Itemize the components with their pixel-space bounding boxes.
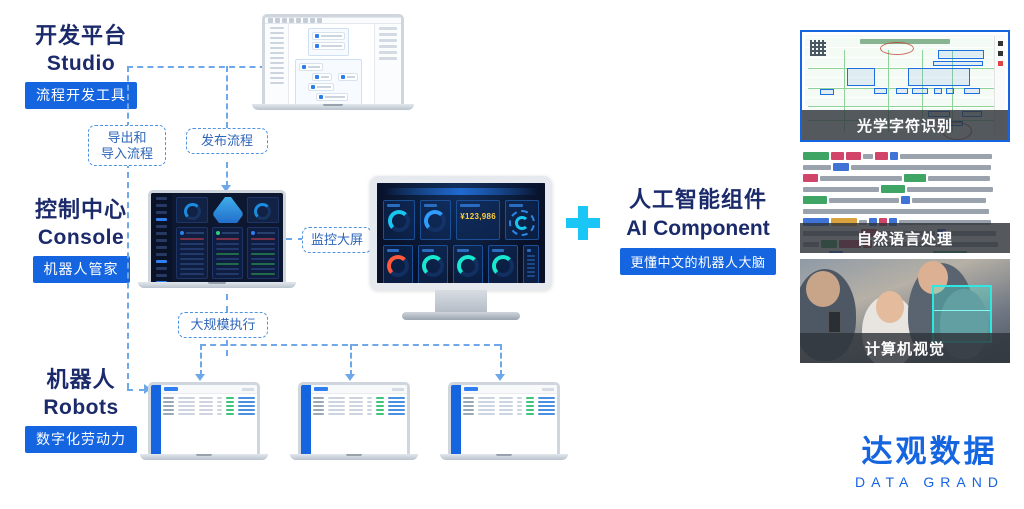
donut-chart — [388, 210, 410, 232]
console-main — [172, 193, 283, 282]
laptop-base — [140, 454, 268, 460]
sidebar-item — [156, 225, 167, 228]
edge-label-monitor: 监控大屏 — [302, 227, 372, 253]
gauge-chart — [509, 210, 535, 236]
panel-line — [180, 263, 204, 265]
property-row — [379, 27, 397, 30]
dashboard-row-top: ¥123,986 — [383, 200, 539, 240]
robot-toolbar — [461, 385, 557, 394]
panel-line — [180, 238, 204, 240]
donut-chart — [422, 255, 444, 277]
console-panel — [176, 227, 208, 279]
panel-line — [216, 243, 240, 245]
status-dot — [180, 231, 184, 235]
mini-table — [527, 255, 535, 277]
ocr-detection-box — [933, 61, 983, 66]
connector-studio-down-a — [127, 66, 129, 128]
status-dot — [216, 231, 220, 235]
studio-body — [265, 24, 401, 104]
studio-activity-tree — [265, 24, 289, 104]
tier-badge-console: 机器人管家 — [33, 256, 130, 283]
entity-tag — [803, 196, 827, 204]
diagram-canvas: 开发平台 Studio 流程开发工具 控制中心 Console 机器人管家 机器… — [0, 0, 1024, 509]
primary-button — [464, 387, 478, 391]
nlp-text-line — [803, 174, 1007, 183]
panel-line — [216, 253, 240, 255]
connector-branch-1 — [200, 344, 202, 376]
card-label — [387, 204, 400, 207]
robot-main — [461, 385, 557, 454]
robot-screen-2 — [298, 382, 410, 454]
property-row — [379, 39, 397, 42]
tier-badge-studio: 流程开发工具 — [25, 82, 137, 109]
ai-title-cn: 人工智能组件 — [608, 182, 788, 214]
plus-icon — [566, 206, 600, 240]
laptop-base — [138, 282, 295, 288]
toolbar-icon — [289, 18, 294, 23]
toolbar-icon — [282, 18, 287, 23]
node-icon — [302, 65, 306, 69]
console-panel — [212, 227, 244, 279]
ocr-detection-box — [908, 68, 970, 86]
card-label — [460, 204, 480, 207]
phone-device — [828, 311, 841, 333]
nlp-text-line — [803, 163, 1007, 172]
connector-branch-3 — [500, 344, 502, 376]
console-app — [151, 193, 283, 282]
person-left-head — [806, 271, 840, 307]
panel-line — [216, 263, 240, 265]
toolbar-icon — [296, 18, 301, 23]
stat-card — [176, 197, 208, 223]
dashboard-app: ¥123,986 — [377, 183, 545, 283]
dashboard-card: ¥123,986 — [456, 200, 500, 240]
studio-properties-panel — [374, 24, 401, 104]
sidebar-dot — [998, 51, 1003, 56]
entity-tag — [803, 174, 818, 182]
panel-line — [251, 253, 275, 255]
flow-node — [338, 73, 358, 81]
ocr-detection-box — [964, 88, 980, 94]
monitor-neck — [435, 290, 487, 312]
panel-line — [180, 258, 204, 260]
robot-app — [301, 385, 407, 454]
card-label — [492, 249, 504, 252]
table-row — [161, 412, 257, 416]
sidebar-item-active — [156, 260, 167, 263]
donut-chart — [254, 203, 271, 220]
dashboard-screen: ¥123,986 — [370, 176, 552, 290]
donut-chart — [492, 255, 514, 277]
entity-tag — [846, 152, 861, 160]
toolbar-icon — [268, 18, 273, 23]
edge-label-export-import: 导出和 导入流程 — [88, 125, 166, 166]
tree-item — [270, 67, 284, 69]
ocr-detection-box — [934, 88, 942, 94]
entity-tag — [833, 163, 849, 171]
tier-label-console: 控制中心 Console 机器人管家 — [6, 196, 156, 283]
company-logo: 达观数据 DATA GRAND — [842, 426, 1017, 490]
robot-sidebar — [301, 385, 311, 454]
card-caption-ocr: 光学字符识别 — [802, 110, 1008, 140]
card-label — [422, 249, 434, 252]
node-icon — [319, 95, 323, 99]
flow-node — [312, 32, 345, 40]
person-center-head — [876, 291, 904, 323]
tree-item — [270, 47, 284, 49]
ai-capability-cards: 光学字符识别 — [800, 30, 1010, 369]
donut-chart — [184, 203, 201, 220]
tree-item — [270, 42, 284, 44]
property-row — [379, 57, 397, 60]
flow-group — [295, 59, 362, 104]
logo-en: DATA GRAND — [842, 474, 1017, 490]
arrow-branch-2 — [345, 374, 355, 381]
property-row — [379, 51, 397, 54]
sidebar-dot — [998, 41, 1003, 46]
toolbar-icon — [317, 18, 322, 23]
panel-header — [216, 231, 240, 235]
stamp-mark — [880, 42, 914, 55]
table-row — [527, 271, 535, 273]
capability-card-nlp: 自然语言处理 — [800, 148, 1010, 253]
entity-tag — [831, 152, 844, 160]
nlp-text-line — [803, 185, 1007, 194]
panel-header — [180, 231, 204, 235]
panel-line — [216, 268, 240, 270]
tree-item — [270, 62, 284, 64]
property-row — [379, 33, 397, 36]
search-box — [242, 388, 254, 391]
dashboard-card — [418, 245, 448, 290]
donut-chart — [387, 255, 409, 277]
panel-line — [180, 243, 204, 245]
entity-tag — [881, 185, 905, 193]
node-icon — [315, 75, 319, 79]
card-label — [457, 249, 469, 252]
flow-group — [308, 28, 349, 56]
device-robot-laptop-1 — [148, 382, 260, 454]
ocr-detection-box — [946, 88, 954, 94]
tree-item — [270, 52, 284, 54]
tier-en-robots: Robots — [6, 394, 156, 421]
studio-app — [265, 17, 401, 104]
sidebar-item — [156, 253, 167, 256]
sidebar-dot — [998, 61, 1003, 66]
panel-line — [180, 248, 204, 250]
panel-line — [180, 273, 204, 275]
entity-tag — [803, 152, 829, 160]
tier-badge-robots: 数字化劳动力 — [25, 426, 137, 453]
console-stats-row — [176, 197, 279, 223]
panel-line — [216, 238, 240, 240]
panel-line — [251, 243, 275, 245]
entity-tag — [904, 174, 926, 182]
donut-chart — [424, 210, 446, 232]
card-label — [509, 204, 523, 207]
property-row — [379, 45, 397, 48]
connector-publish-down — [226, 162, 228, 187]
robot-main — [311, 385, 407, 454]
ai-badge: 更懂中文的机器人大脑 — [620, 248, 775, 275]
dashboard-card — [383, 200, 415, 240]
node-icon — [315, 34, 319, 38]
invoice-gridline — [808, 68, 1002, 69]
panel-line — [216, 248, 240, 250]
entity-tag — [875, 152, 888, 160]
sidebar-item — [156, 274, 167, 277]
sidebar-item — [156, 232, 167, 235]
entity-tag — [901, 196, 910, 204]
robot-sidebar — [151, 385, 161, 454]
panel-line — [251, 263, 275, 265]
table-row — [527, 267, 535, 269]
arrow-branch-3 — [495, 374, 505, 381]
robot-toolbar — [311, 385, 407, 394]
tree-item — [270, 27, 284, 29]
connector-studio-down-b — [127, 162, 129, 389]
edge-label-publish: 发布流程 — [186, 128, 268, 154]
panel-line — [251, 268, 275, 270]
laptop-base — [290, 454, 418, 460]
robot-app — [151, 385, 257, 454]
invoice-gridline — [808, 106, 1002, 107]
device-studio-laptop — [262, 14, 404, 104]
toolbar-icon — [275, 18, 280, 23]
ocr-detection-box — [896, 88, 908, 94]
connector-mass-down2 — [226, 340, 228, 356]
hero-diamond — [212, 197, 242, 223]
search-box — [542, 388, 554, 391]
primary-button — [314, 387, 328, 391]
node-icon — [315, 44, 319, 48]
dashboard-card — [488, 245, 518, 290]
robot-toolbar — [161, 385, 257, 394]
panel-line — [251, 238, 275, 240]
tier-en-studio: Studio — [6, 50, 156, 77]
status-dot — [251, 231, 255, 235]
nlp-text-line — [803, 207, 1007, 216]
sidebar-item — [156, 246, 167, 249]
dashboard-card — [505, 200, 539, 240]
dashboard-card — [420, 200, 452, 240]
tree-item — [270, 37, 284, 39]
arrow-branch-1 — [195, 374, 205, 381]
capability-card-cv: 计算机视觉 — [800, 259, 1010, 363]
nlp-text-line — [803, 196, 1007, 205]
ocr-detection-box — [847, 68, 875, 86]
qr-code-icon — [810, 40, 826, 56]
monitor-foot — [402, 312, 520, 320]
laptop-base — [440, 454, 568, 460]
card-caption-nlp: 自然语言处理 — [800, 223, 1010, 253]
panel-line — [251, 248, 275, 250]
entity-tag — [890, 152, 898, 160]
device-console-laptop — [148, 190, 286, 282]
stat-card — [247, 197, 279, 223]
toolbar-icon — [303, 18, 308, 23]
table-row — [527, 275, 535, 277]
dashboard-title-bar — [383, 188, 539, 195]
ocr-detection-box — [820, 89, 834, 95]
tree-item — [270, 77, 284, 79]
nlp-text-line — [803, 152, 1007, 161]
tier-cn-studio: 开发平台 — [6, 22, 156, 50]
flow-node — [308, 83, 334, 91]
capability-card-ocr: 光学字符识别 — [800, 30, 1010, 142]
panel-line — [251, 273, 275, 275]
tier-en-console: Console — [6, 224, 156, 251]
table-row — [461, 412, 557, 416]
table-row — [527, 263, 535, 265]
studio-flow-canvas — [289, 24, 373, 104]
robot-app — [451, 385, 557, 454]
donut-chart — [457, 255, 479, 277]
sidebar-item — [156, 204, 167, 207]
card-caption-cv: 计算机视觉 — [800, 333, 1010, 363]
panel-line — [216, 258, 240, 260]
console-panels-row — [176, 227, 279, 279]
robot-screen-1 — [148, 382, 260, 454]
dashboard-card — [383, 245, 413, 290]
flow-node — [312, 73, 332, 81]
device-dashboard-monitor: ¥123,986 — [370, 176, 552, 290]
tier-label-robots: 机器人 Robots 数字化劳动力 — [6, 366, 156, 453]
panel-line — [251, 258, 275, 260]
node-icon — [341, 75, 345, 79]
console-screen — [148, 190, 286, 282]
robot-table — [311, 396, 407, 416]
device-robot-laptop-2 — [298, 382, 410, 454]
edge-label-mass-execution: 大规模执行 — [178, 312, 268, 338]
card-label — [527, 249, 531, 252]
connector-mass-down — [226, 294, 228, 312]
robot-sidebar — [451, 385, 461, 454]
ai-title-en: AI Component — [608, 217, 788, 241]
flow-node — [312, 42, 345, 50]
connector-to-robot-left — [127, 389, 145, 391]
metric-value: ¥123,986 — [460, 212, 496, 221]
diamond-icon — [212, 197, 242, 223]
table-row — [527, 259, 535, 261]
sidebar-item — [156, 239, 167, 242]
ocr-detection-box — [912, 88, 928, 94]
flow-node — [299, 63, 322, 71]
console-panel — [247, 227, 279, 279]
tree-item — [270, 57, 284, 59]
studio-screen — [262, 14, 404, 104]
table-row — [311, 412, 407, 416]
ocr-detection-box — [938, 50, 984, 59]
panel-line — [180, 268, 204, 270]
primary-button — [164, 387, 178, 391]
sidebar-item — [156, 267, 167, 270]
panel-header — [251, 231, 275, 235]
connector-publish-up — [226, 66, 228, 128]
logo-cn: 达观数据 — [842, 426, 1017, 471]
panel-line — [216, 273, 240, 275]
robot-table — [161, 396, 257, 416]
ai-component-block: 人工智能组件 AI Component 更懂中文的机器人大脑 — [608, 182, 788, 275]
tier-cn-console: 控制中心 — [6, 196, 156, 224]
card-label — [424, 204, 437, 207]
panel-line — [180, 253, 204, 255]
dashboard-card — [453, 245, 483, 290]
flow-node — [316, 93, 348, 101]
laptop-base — [252, 104, 414, 110]
robot-main — [161, 385, 257, 454]
table-row — [527, 255, 535, 257]
tree-item — [270, 82, 284, 84]
sidebar-item — [156, 197, 167, 200]
search-box — [392, 388, 404, 391]
ocr-detection-box — [874, 88, 887, 94]
console-sidebar — [151, 193, 172, 282]
card-label — [387, 249, 399, 252]
robot-screen-3 — [448, 382, 560, 454]
device-robot-laptop-3 — [448, 382, 560, 454]
robot-table — [461, 396, 557, 416]
sidebar-item — [156, 211, 167, 214]
dashboard-row-bottom — [383, 240, 539, 290]
connector-branch-2 — [350, 344, 352, 376]
node-icon — [311, 85, 315, 89]
toolbar-icon — [310, 18, 315, 23]
sidebar-item-active — [156, 218, 167, 221]
tree-item — [270, 72, 284, 74]
tree-item — [270, 32, 284, 34]
dashboard-table-card — [523, 245, 539, 290]
